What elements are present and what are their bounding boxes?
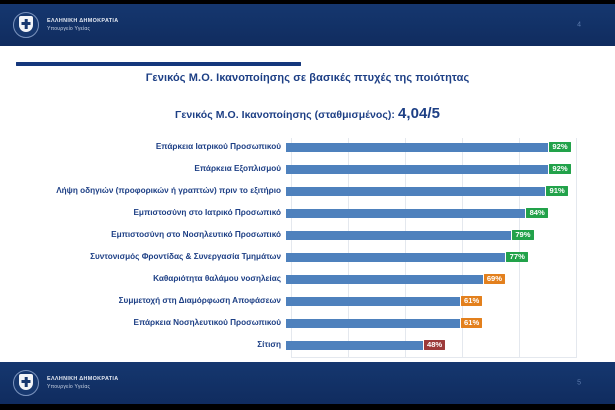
- bar-value-badge: 69%: [484, 274, 506, 285]
- overall-score-line: Γενικός Μ.Ο. Ικανοποίησης (σταθμισμένος)…: [0, 105, 615, 122]
- letterbox-top: [0, 0, 615, 4]
- bar-track: 92%: [286, 136, 571, 158]
- footer-org-subtitle: Υπουργείο Υγείας: [47, 384, 118, 390]
- chart-row: Συντονισμός Φροντίδας & Συνεργασία Τμημά…: [0, 246, 615, 268]
- bar-track: 69%: [286, 268, 571, 290]
- bar-track: 79%: [286, 224, 571, 246]
- bar: [286, 187, 545, 196]
- header-org-title: ΕΛΛΗΝΙΚΗ ΔΗΜΟΚΡΑΤΙΑ: [47, 18, 118, 25]
- bar-track: 77%: [286, 246, 571, 268]
- overall-score-value: 4,04/5: [398, 105, 440, 122]
- chart-row: Εμπιστοσύνη στο Ιατρικό Προσωπικό84%: [0, 202, 615, 224]
- chart-row: Επάρκεια Νοσηλευτικού Προσωπικού61%: [0, 312, 615, 334]
- axis-baseline: [291, 357, 576, 358]
- bar-track: 84%: [286, 202, 571, 224]
- bar-track: 91%: [286, 180, 571, 202]
- category-label: Συντονισμός Φροντίδας & Συνεργασία Τμημά…: [0, 253, 286, 261]
- satisfaction-bar-chart: Επάρκεια Ιατρικού Προσωπικού92%Επάρκεια …: [0, 136, 615, 360]
- category-label: Λήψη οδηγιών (προφορικών ή γραπτών) πριν…: [0, 187, 286, 195]
- page-title: Γενικός Μ.Ο. Ικανοποίησης σε βασικές πτυ…: [0, 72, 615, 84]
- category-label: Σίτιση: [0, 341, 286, 349]
- header-org-subtitle: Υπουργείο Υγείας: [47, 26, 118, 32]
- bar: [286, 253, 505, 262]
- footer-org-title: ΕΛΛΗΝΙΚΗ ΔΗΜΟΚΡΑΤΙΑ: [47, 376, 118, 383]
- greek-republic-emblem-icon: [13, 12, 39, 38]
- chart-row: Λήψη οδηγιών (προφορικών ή γραπτών) πριν…: [0, 180, 615, 202]
- bar: [286, 231, 511, 240]
- bar-track: 92%: [286, 158, 571, 180]
- chart-row: Καθαριότητα θαλάμου νοσηλείας69%: [0, 268, 615, 290]
- bar-value-badge: 91%: [546, 186, 568, 197]
- title-accent-rule: [16, 62, 301, 66]
- bar: [286, 341, 423, 350]
- footer-org-text: ΕΛΛΗΝΙΚΗ ΔΗΜΟΚΡΑΤΙΑ Υπουργείο Υγείας: [47, 376, 118, 391]
- bar-track: 61%: [286, 290, 571, 312]
- slide-canvas: ΕΛΛΗΝΙΚΗ ΔΗΜΟΚΡΑΤΙΑ Υπουργείο Υγείας 4 Γ…: [0, 0, 615, 410]
- bar-value-badge: 61%: [461, 318, 483, 329]
- header-page-number: 4: [577, 22, 581, 29]
- header-org-text: ΕΛΛΗΝΙΚΗ ΔΗΜΟΚΡΑΤΙΑ Υπουργείο Υγείας: [47, 18, 118, 33]
- category-label: Επάρκεια Ιατρικού Προσωπικού: [0, 143, 286, 151]
- bar: [286, 209, 525, 218]
- bar-value-badge: 92%: [549, 142, 571, 153]
- letterbox-bottom: [0, 404, 615, 410]
- bar-value-badge: 79%: [512, 230, 534, 241]
- category-label: Επάρκεια Εξοπλισμού: [0, 165, 286, 173]
- chart-row: Συμμετοχή στη Διαμόρφωση Αποφάσεων61%: [0, 290, 615, 312]
- overall-score-label: Γενικός Μ.Ο. Ικανοποίησης (σταθμισμένος)…: [175, 109, 395, 121]
- footer-page-number: 5: [577, 380, 581, 387]
- footer-banner: ΕΛΛΗΝΙΚΗ ΔΗΜΟΚΡΑΤΙΑ Υπουργείο Υγείας 5: [0, 362, 615, 404]
- greek-republic-emblem-icon: [13, 370, 39, 396]
- bar: [286, 165, 548, 174]
- bar-value-badge: 77%: [506, 252, 528, 263]
- category-label: Επάρκεια Νοσηλευτικού Προσωπικού: [0, 319, 286, 327]
- bar-value-badge: 92%: [549, 164, 571, 175]
- bar: [286, 297, 460, 306]
- category-label: Εμπιστοσύνη στο Νοσηλευτικό Προσωπικό: [0, 231, 286, 239]
- chart-row: Εμπιστοσύνη στο Νοσηλευτικό Προσωπικό79%: [0, 224, 615, 246]
- bar-track: 48%: [286, 334, 571, 356]
- bar: [286, 143, 548, 152]
- bar: [286, 319, 460, 328]
- bar-value-badge: 61%: [461, 296, 483, 307]
- category-label: Εμπιστοσύνη στο Ιατρικό Προσωπικό: [0, 209, 286, 217]
- chart-row: Επάρκεια Ιατρικού Προσωπικού92%: [0, 136, 615, 158]
- bar-track: 61%: [286, 312, 571, 334]
- category-label: Καθαριότητα θαλάμου νοσηλείας: [0, 275, 286, 283]
- chart-row: Σίτιση48%: [0, 334, 615, 356]
- bar: [286, 275, 483, 284]
- category-label: Συμμετοχή στη Διαμόρφωση Αποφάσεων: [0, 297, 286, 305]
- chart-row: Επάρκεια Εξοπλισμού92%: [0, 158, 615, 180]
- header-banner: ΕΛΛΗΝΙΚΗ ΔΗΜΟΚΡΑΤΙΑ Υπουργείο Υγείας 4: [0, 4, 615, 46]
- bar-value-badge: 48%: [424, 340, 446, 351]
- bar-value-badge: 84%: [526, 208, 548, 219]
